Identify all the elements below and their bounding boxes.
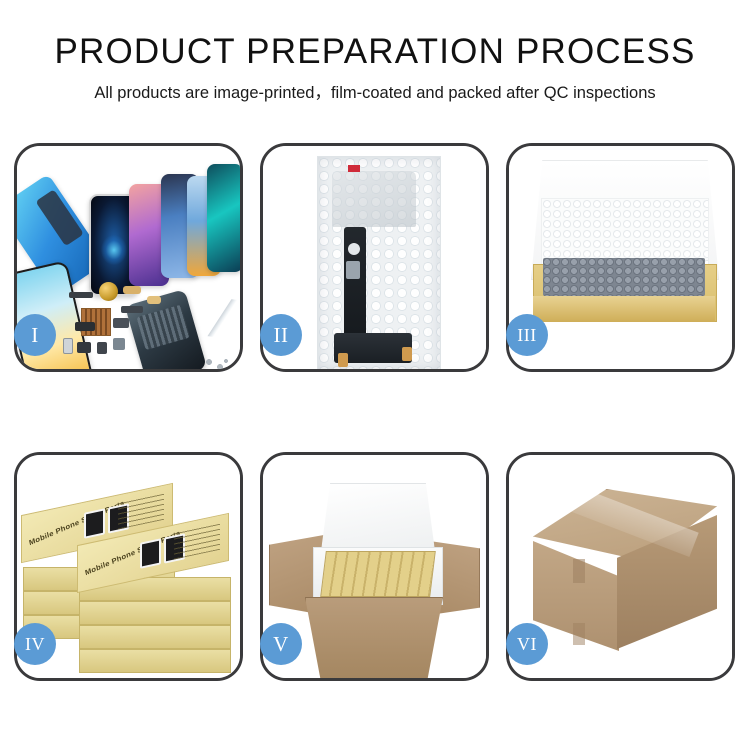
- process-step-grid: I II: [0, 141, 750, 686]
- bubble-wrap-bag: [317, 156, 441, 369]
- sim-tray-part: [63, 338, 73, 354]
- red-label-sticker: [348, 165, 360, 172]
- step-badge-4: IV: [14, 623, 56, 665]
- small-bracket-part: [97, 342, 107, 354]
- flex-connector-right: [402, 347, 412, 361]
- gold-flex-connector: [123, 286, 141, 294]
- step-badge-2: II: [260, 314, 302, 356]
- camera-module-part: [113, 318, 129, 328]
- page-title: PRODUCT PREPARATION PROCESS: [0, 30, 750, 74]
- page-header: PRODUCT PREPARATION PROCESS All products…: [0, 0, 750, 105]
- kraft-box-front-wall: [533, 296, 715, 322]
- gold-speaker-part: [99, 282, 118, 301]
- box-lid-spec-lines: [118, 492, 164, 530]
- carton-seam-upper: [573, 559, 585, 583]
- step-badge-3: III: [506, 314, 548, 356]
- opened-phone-chassis: [125, 289, 207, 369]
- carton-body: [305, 597, 443, 678]
- teal-gradient-phone: [207, 164, 240, 272]
- screen-glass-area: [332, 171, 416, 227]
- vibrator-motor-part: [77, 342, 91, 353]
- driver-chip: [346, 261, 360, 279]
- process-step-panel-2[interactable]: II: [260, 143, 489, 372]
- flex-connector-left: [338, 353, 348, 367]
- stacked-box-layer: [79, 625, 231, 649]
- camera-hole: [348, 243, 360, 255]
- earpiece-mesh-part: [69, 292, 93, 298]
- foam-case-lid: [321, 483, 435, 551]
- step-badge-6: VI: [506, 623, 548, 665]
- kraft-boxes-inside: [320, 551, 436, 597]
- box-lid-spec-lines: [174, 522, 220, 560]
- process-step-panel-1[interactable]: I: [14, 143, 243, 372]
- page-subtitle: All products are image-printed，film-coat…: [0, 81, 750, 105]
- box-lid-phone-image: [140, 538, 161, 568]
- stacked-box-layer: [79, 649, 231, 673]
- tweezers-tool: [200, 296, 240, 341]
- process-step-panel-5[interactable]: V: [260, 452, 489, 681]
- step-badge-1: I: [14, 314, 56, 356]
- screws-group: [205, 358, 229, 369]
- flex-cable-part: [75, 322, 95, 331]
- carton-seam-lower: [573, 623, 585, 645]
- process-step-panel-6[interactable]: VI: [506, 452, 735, 681]
- step-badge-5: V: [260, 623, 302, 665]
- stacked-box-layer: [79, 601, 231, 625]
- bubble-wrapped-contents: [543, 258, 705, 296]
- gold-button-flex: [147, 296, 161, 304]
- process-step-panel-3[interactable]: III: [506, 143, 735, 372]
- process-step-panel-4[interactable]: Mobile Phone Spare Parts Mobile Phone Sp…: [14, 452, 243, 681]
- ribbon-cable-part: [121, 306, 143, 313]
- metal-shield-part: [113, 338, 125, 350]
- box-lid-phone-image: [84, 508, 105, 538]
